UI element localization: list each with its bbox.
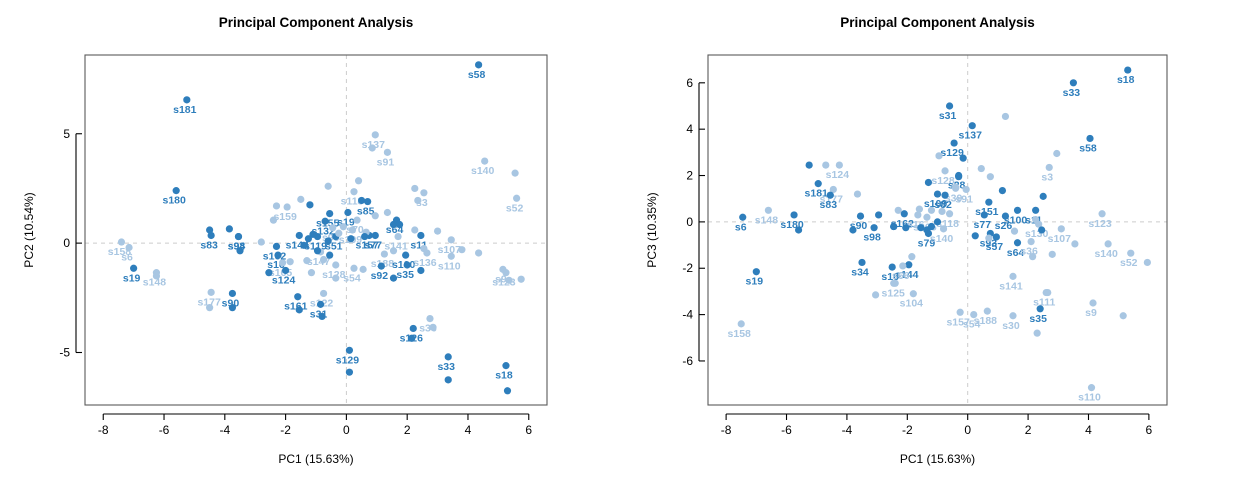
- y-tick-label: 2: [686, 169, 693, 183]
- point-label: s111: [1033, 297, 1055, 309]
- scatter-point[interactable]: [934, 190, 941, 197]
- x-axis-title: PC1 (15.63%): [900, 452, 975, 466]
- scatter-point[interactable]: [901, 210, 908, 217]
- scatter-point[interactable]: [1009, 312, 1016, 319]
- scatter-point[interactable]: [899, 262, 906, 269]
- scatter-point[interactable]: [360, 266, 367, 273]
- scatter-point[interactable]: [475, 61, 482, 68]
- scatter-point[interactable]: [350, 265, 357, 272]
- y-tick-label: 6: [686, 76, 693, 90]
- point-label: s110: [438, 260, 461, 272]
- scatter-point[interactable]: [513, 195, 520, 202]
- scatter-point[interactable]: [417, 232, 424, 239]
- scatter-point[interactable]: [320, 290, 327, 297]
- point-label: s77: [365, 239, 383, 251]
- scatter-point[interactable]: [1011, 228, 1018, 235]
- scatter-point[interactable]: [314, 247, 321, 254]
- x-axis: -8-6-4-20246: [98, 414, 533, 437]
- scatter-point[interactable]: [347, 235, 354, 242]
- point-label: s18: [495, 370, 513, 382]
- y-tick-label: 0: [686, 215, 693, 229]
- scatter-point[interactable]: [981, 211, 988, 218]
- scatter-point[interactable]: [297, 196, 304, 203]
- scatter-point[interactable]: [358, 197, 365, 204]
- scatter-point[interactable]: [353, 217, 360, 224]
- point-label: s30: [1002, 320, 1020, 332]
- scatter-point[interactable]: [417, 267, 424, 274]
- chart-title: Principal Component Analysis: [219, 15, 414, 30]
- point-label: s136: [413, 257, 437, 269]
- scatter-point[interactable]: [875, 211, 882, 218]
- scatter-point[interactable]: [1049, 251, 1056, 258]
- scatter-point[interactable]: [372, 232, 379, 239]
- scatter-point[interactable]: [999, 187, 1006, 194]
- point-label: s124: [826, 169, 850, 181]
- scatter-point[interactable]: [434, 227, 441, 234]
- scatter-point[interactable]: [426, 315, 433, 322]
- pca-scatter-pc3[interactable]: Principal Component Analysiss18s33s31s13…: [619, 0, 1238, 500]
- scatter-point[interactable]: [854, 190, 861, 197]
- scatter-point[interactable]: [346, 347, 353, 354]
- scatter-point[interactable]: [985, 235, 992, 242]
- scatter-point[interactable]: [1040, 193, 1047, 200]
- scatter-point[interactable]: [1044, 289, 1051, 296]
- scatter-point[interactable]: [294, 293, 301, 300]
- scatter-point[interactable]: [320, 256, 327, 263]
- scatter-point[interactable]: [429, 324, 436, 331]
- x-tick-label: 2: [1025, 423, 1032, 437]
- scatter-point[interactable]: [827, 192, 834, 199]
- point-label: s31: [939, 110, 957, 122]
- scatter-point[interactable]: [206, 226, 213, 233]
- point-label: s161: [284, 301, 308, 313]
- scatter-point[interactable]: [960, 155, 967, 162]
- x-axis: -8-6-4-20246: [721, 414, 1153, 437]
- scatter-point[interactable]: [1088, 384, 1095, 391]
- scatter-point[interactable]: [329, 224, 336, 231]
- point-label: s33: [437, 361, 455, 373]
- scatter-point[interactable]: [505, 277, 512, 284]
- scatter-point[interactable]: [475, 249, 482, 256]
- x-tick-label: -4: [219, 423, 230, 437]
- point-label: s35: [1029, 313, 1047, 325]
- scatter-point[interactable]: [318, 313, 325, 320]
- scatter-point[interactable]: [940, 225, 947, 232]
- scatter-point[interactable]: [404, 261, 411, 268]
- scatter-point[interactable]: [957, 309, 964, 316]
- point-labels: s58s181s137s91s140s180s118s3s85s52s159s1…: [108, 69, 524, 382]
- scatter-point[interactable]: [872, 291, 879, 298]
- point-label: s159: [273, 211, 297, 223]
- scatter-point[interactable]: [935, 152, 942, 159]
- scatter-point[interactable]: [481, 157, 488, 164]
- x-tick-label: 2: [404, 423, 411, 437]
- scatter-point[interactable]: [790, 211, 797, 218]
- point-label: s91: [377, 156, 395, 168]
- point-label: s33: [1063, 87, 1081, 99]
- scatter-point[interactable]: [849, 226, 856, 233]
- scatter-point[interactable]: [130, 265, 137, 272]
- scatter-point[interactable]: [183, 96, 190, 103]
- y-tick-label: -6: [682, 354, 693, 368]
- point-label: s19: [746, 276, 764, 288]
- scatter-point[interactable]: [445, 376, 452, 383]
- scatter-point[interactable]: [350, 188, 357, 195]
- scatter-point[interactable]: [1028, 238, 1035, 245]
- scatter-point[interactable]: [326, 252, 333, 259]
- scatter-point[interactable]: [753, 268, 760, 275]
- scatter-point[interactable]: [946, 102, 953, 109]
- scatter-point[interactable]: [1002, 212, 1009, 219]
- point-label: s110: [1078, 392, 1101, 404]
- scatter-point[interactable]: [952, 184, 959, 191]
- scatter-point[interactable]: [369, 144, 376, 151]
- scatter-point[interactable]: [287, 258, 294, 265]
- point-label: s52: [1120, 257, 1138, 269]
- scatter-point[interactable]: [499, 266, 506, 273]
- scatter-point[interactable]: [372, 212, 379, 219]
- scatter-point[interactable]: [445, 353, 452, 360]
- scatter-point[interactable]: [448, 236, 455, 243]
- scatter-point[interactable]: [1086, 135, 1093, 142]
- x-tick-label: -6: [159, 423, 170, 437]
- scatter-point[interactable]: [969, 122, 976, 129]
- y-tick-label: 5: [63, 127, 70, 141]
- scatter-point[interactable]: [1144, 259, 1151, 266]
- point-label: s181: [173, 104, 197, 116]
- x-tick-label: -4: [842, 423, 853, 437]
- point-label: s6: [121, 252, 133, 264]
- scatter-point[interactable]: [305, 235, 312, 242]
- scatter-point[interactable]: [1089, 299, 1096, 306]
- point-label: s137: [959, 130, 983, 142]
- scatter-point[interactable]: [1120, 312, 1127, 319]
- scatter-point[interactable]: [361, 233, 368, 240]
- scatter-point[interactable]: [414, 197, 421, 204]
- scatter-point[interactable]: [378, 262, 385, 269]
- scatter-point[interactable]: [1058, 225, 1065, 232]
- point-label: s83: [200, 239, 218, 251]
- scatter-point[interactable]: [206, 304, 213, 311]
- scatter-point[interactable]: [355, 177, 362, 184]
- scatter-point[interactable]: [349, 226, 356, 233]
- x-tick-label: -8: [98, 423, 109, 437]
- x-tick-label: 0: [343, 423, 350, 437]
- scatter-point[interactable]: [890, 223, 897, 230]
- scatter-point[interactable]: [941, 192, 948, 199]
- point-label: s52: [506, 202, 524, 214]
- scatter-point[interactable]: [235, 233, 242, 240]
- scatter-point[interactable]: [951, 139, 958, 146]
- point-label: s54: [343, 272, 361, 284]
- scatter-point[interactable]: [1037, 305, 1044, 312]
- point-labels: s18s33s31s137s129s58s3s181s124s128s28s17…: [728, 74, 1138, 404]
- point-label: s34: [851, 266, 869, 278]
- y-axis-title: PC3 (10.35%): [645, 192, 659, 267]
- scatter-point[interactable]: [208, 289, 215, 296]
- x-tick-label: -6: [781, 423, 792, 437]
- scatter-point[interactable]: [518, 276, 525, 283]
- scatter-point[interactable]: [890, 280, 897, 287]
- y-tick-label: -2: [682, 261, 693, 275]
- scatter-point[interactable]: [934, 218, 941, 225]
- scatter-point[interactable]: [390, 247, 397, 254]
- point-label: s18: [1117, 74, 1135, 86]
- scatter-point[interactable]: [390, 275, 397, 282]
- scatter-point[interactable]: [265, 269, 272, 276]
- scatter-point[interactable]: [279, 259, 286, 266]
- x-tick-label: 6: [525, 423, 532, 437]
- scatter-point[interactable]: [282, 267, 289, 274]
- scatter-point[interactable]: [858, 259, 865, 266]
- scatter-point[interactable]: [917, 224, 924, 231]
- scatter-point[interactable]: [1002, 113, 1009, 120]
- scatter-point[interactable]: [902, 224, 909, 231]
- scatter-point[interactable]: [978, 165, 985, 172]
- point-label: s104: [900, 298, 924, 310]
- scatter-point[interactable]: [308, 269, 315, 276]
- x-tick-label: 4: [465, 423, 472, 437]
- scatter-point[interactable]: [993, 233, 1000, 240]
- point-label: s107: [1048, 233, 1072, 245]
- scatter-point[interactable]: [984, 308, 991, 315]
- point-label: s148: [755, 214, 779, 226]
- point-label: s83: [820, 199, 838, 211]
- point-label: s58: [1079, 142, 1097, 154]
- scatter-point[interactable]: [306, 201, 313, 208]
- scatter-point[interactable]: [1034, 330, 1041, 337]
- y-tick-label: -5: [59, 346, 70, 360]
- scatter-point[interactable]: [410, 325, 417, 332]
- scatter-point[interactable]: [1124, 66, 1131, 73]
- scatter-point[interactable]: [1032, 207, 1039, 214]
- scatter-point[interactable]: [987, 173, 994, 180]
- plot-frame: [708, 55, 1167, 405]
- scatter-point[interactable]: [955, 173, 962, 180]
- scatter-point[interactable]: [325, 237, 332, 244]
- scatter-point[interactable]: [125, 244, 132, 251]
- scatter-point[interactable]: [941, 167, 948, 174]
- scatter-point[interactable]: [910, 290, 917, 297]
- pca-figure: Principal Component Analysiss58s181s137s…: [0, 0, 1238, 500]
- scatter-point[interactable]: [296, 306, 303, 313]
- scatter-point[interactable]: [504, 387, 511, 394]
- scatter-point[interactable]: [335, 230, 342, 237]
- x-tick-label: -2: [280, 423, 291, 437]
- point-label: s123: [1088, 218, 1112, 230]
- point-label: s147: [307, 256, 331, 268]
- scatter-point[interactable]: [1014, 239, 1021, 246]
- scatter-point[interactable]: [402, 252, 409, 259]
- y-tick-label: 0: [63, 236, 70, 250]
- scatter-point[interactable]: [448, 253, 455, 260]
- point-label: s92: [371, 270, 389, 282]
- scatter-point[interactable]: [326, 210, 333, 217]
- scatter-point[interactable]: [795, 226, 802, 233]
- point-label: s58: [468, 69, 486, 81]
- scatter-point[interactable]: [384, 149, 391, 156]
- scatter-point[interactable]: [381, 250, 388, 257]
- scatter-point[interactable]: [346, 369, 353, 376]
- scatter-point[interactable]: [857, 212, 864, 219]
- scatter-point[interactable]: [836, 162, 843, 169]
- scatter-point[interactable]: [411, 226, 418, 233]
- scatter-point[interactable]: [1127, 250, 1134, 257]
- scatter-point[interactable]: [1038, 226, 1045, 233]
- point-label: s180: [163, 195, 187, 207]
- pca-panel-pc3: Principal Component Analysiss18s33s31s13…: [619, 0, 1238, 500]
- scatter-point[interactable]: [173, 187, 180, 194]
- y-axis-title: PC2 (10.54%): [22, 192, 36, 267]
- scatter-point[interactable]: [963, 186, 970, 193]
- scatter-point[interactable]: [923, 214, 930, 221]
- scatter-point[interactable]: [284, 203, 291, 210]
- scatter-point[interactable]: [1071, 240, 1078, 247]
- pca-panel-pc2: Principal Component Analysiss58s181s137s…: [0, 0, 619, 500]
- scatter-point[interactable]: [1029, 253, 1036, 260]
- scatter-point[interactable]: [1053, 150, 1060, 157]
- scatter-point[interactable]: [332, 261, 339, 268]
- scatter-point[interactable]: [229, 304, 236, 311]
- scatter-point[interactable]: [765, 207, 772, 214]
- scatter-point[interactable]: [938, 208, 945, 215]
- scatter-point[interactable]: [908, 253, 915, 260]
- point-label: s140: [1094, 248, 1118, 260]
- scatter-point[interactable]: [372, 131, 379, 138]
- point-label: s57: [986, 241, 1004, 253]
- point-label: s98: [863, 232, 881, 244]
- reference-lines: [708, 55, 1167, 405]
- scatter-point[interactable]: [364, 198, 371, 205]
- y-tick-label: 4: [686, 122, 693, 136]
- point-label: s6: [735, 221, 747, 233]
- point-label: s140: [930, 233, 954, 245]
- scatter-point[interactable]: [300, 242, 307, 249]
- scatter-point[interactable]: [458, 246, 465, 253]
- scatter-point[interactable]: [822, 162, 829, 169]
- scatter-point[interactable]: [317, 301, 324, 308]
- pca-scatter-pc2[interactable]: Principal Component Analysiss58s181s137s…: [0, 0, 619, 500]
- point-label: s19: [123, 272, 141, 284]
- scatter-point[interactable]: [738, 320, 745, 327]
- scatter-point[interactable]: [322, 218, 329, 225]
- scatter-point[interactable]: [905, 261, 912, 268]
- scatter-point[interactable]: [889, 263, 896, 270]
- scatter-point[interactable]: [739, 214, 746, 221]
- x-axis-title: PC1 (15.63%): [278, 452, 353, 466]
- scatter-point[interactable]: [916, 206, 923, 213]
- scatter-point[interactable]: [946, 210, 953, 217]
- scatter-point[interactable]: [870, 224, 877, 231]
- scatter-point[interactable]: [511, 170, 518, 177]
- scatter-point[interactable]: [274, 252, 281, 259]
- scatter-point[interactable]: [226, 225, 233, 232]
- x-tick-label: -8: [721, 423, 732, 437]
- point-label: s26: [995, 220, 1013, 232]
- scatter-point[interactable]: [985, 199, 992, 206]
- scatter-point[interactable]: [258, 238, 265, 245]
- scatter-point[interactable]: [340, 223, 347, 230]
- scatter-point[interactable]: [1032, 216, 1039, 223]
- y-axis: 50-5: [59, 127, 82, 360]
- scatter-point[interactable]: [325, 183, 332, 190]
- scatter-point[interactable]: [502, 362, 509, 369]
- scatter-point[interactable]: [384, 209, 391, 216]
- scatter-point[interactable]: [296, 232, 303, 239]
- scatter-point[interactable]: [1046, 164, 1053, 171]
- scatter-point[interactable]: [396, 221, 403, 228]
- scatter-point[interactable]: [928, 207, 935, 214]
- point-label: s141: [999, 280, 1023, 292]
- scatter-point[interactable]: [394, 233, 401, 240]
- scatter-point[interactable]: [806, 162, 813, 169]
- scatter-point[interactable]: [408, 335, 415, 342]
- y-axis: 6420-2-4-6: [682, 76, 705, 368]
- scatter-point[interactable]: [420, 189, 427, 196]
- scatter-point[interactable]: [153, 272, 160, 279]
- y-tick-label: -4: [682, 308, 693, 322]
- scatter-point[interactable]: [344, 209, 351, 216]
- scatter-point[interactable]: [420, 245, 427, 252]
- scatter-point[interactable]: [1014, 207, 1021, 214]
- point-label: s35: [396, 269, 414, 281]
- scatter-point[interactable]: [270, 217, 277, 224]
- scatter-point[interactable]: [895, 207, 902, 214]
- point-label: s3: [1041, 171, 1053, 183]
- point-label: s140: [471, 165, 495, 177]
- scatter-point[interactable]: [118, 238, 125, 245]
- x-tick-label: 0: [964, 423, 971, 437]
- point-label: s129: [336, 354, 360, 366]
- scatter-point[interactable]: [1070, 79, 1077, 86]
- x-tick-label: 4: [1085, 423, 1092, 437]
- x-tick-label: 6: [1146, 423, 1153, 437]
- scatter-point[interactable]: [970, 311, 977, 318]
- scatter-point[interactable]: [273, 243, 280, 250]
- x-tick-label: -2: [902, 423, 913, 437]
- point-label: s9: [1085, 307, 1097, 319]
- point-label: s158: [728, 328, 752, 340]
- point-label: s188: [974, 315, 998, 327]
- scatter-point[interactable]: [236, 247, 243, 254]
- scatter-point[interactable]: [229, 290, 236, 297]
- scatter-point[interactable]: [273, 202, 280, 209]
- chart-title: Principal Component Analysis: [840, 15, 1035, 30]
- scatter-point[interactable]: [303, 257, 310, 264]
- point-label: s77: [974, 219, 992, 231]
- scatter-point[interactable]: [411, 185, 418, 192]
- scatter-point[interactable]: [1098, 210, 1105, 217]
- scatter-point[interactable]: [332, 275, 339, 282]
- scatter-point[interactable]: [972, 232, 979, 239]
- scatter-point[interactable]: [1009, 273, 1016, 280]
- scatter-point[interactable]: [815, 180, 822, 187]
- scatter-point[interactable]: [1105, 240, 1112, 247]
- scatter-point[interactable]: [925, 179, 932, 186]
